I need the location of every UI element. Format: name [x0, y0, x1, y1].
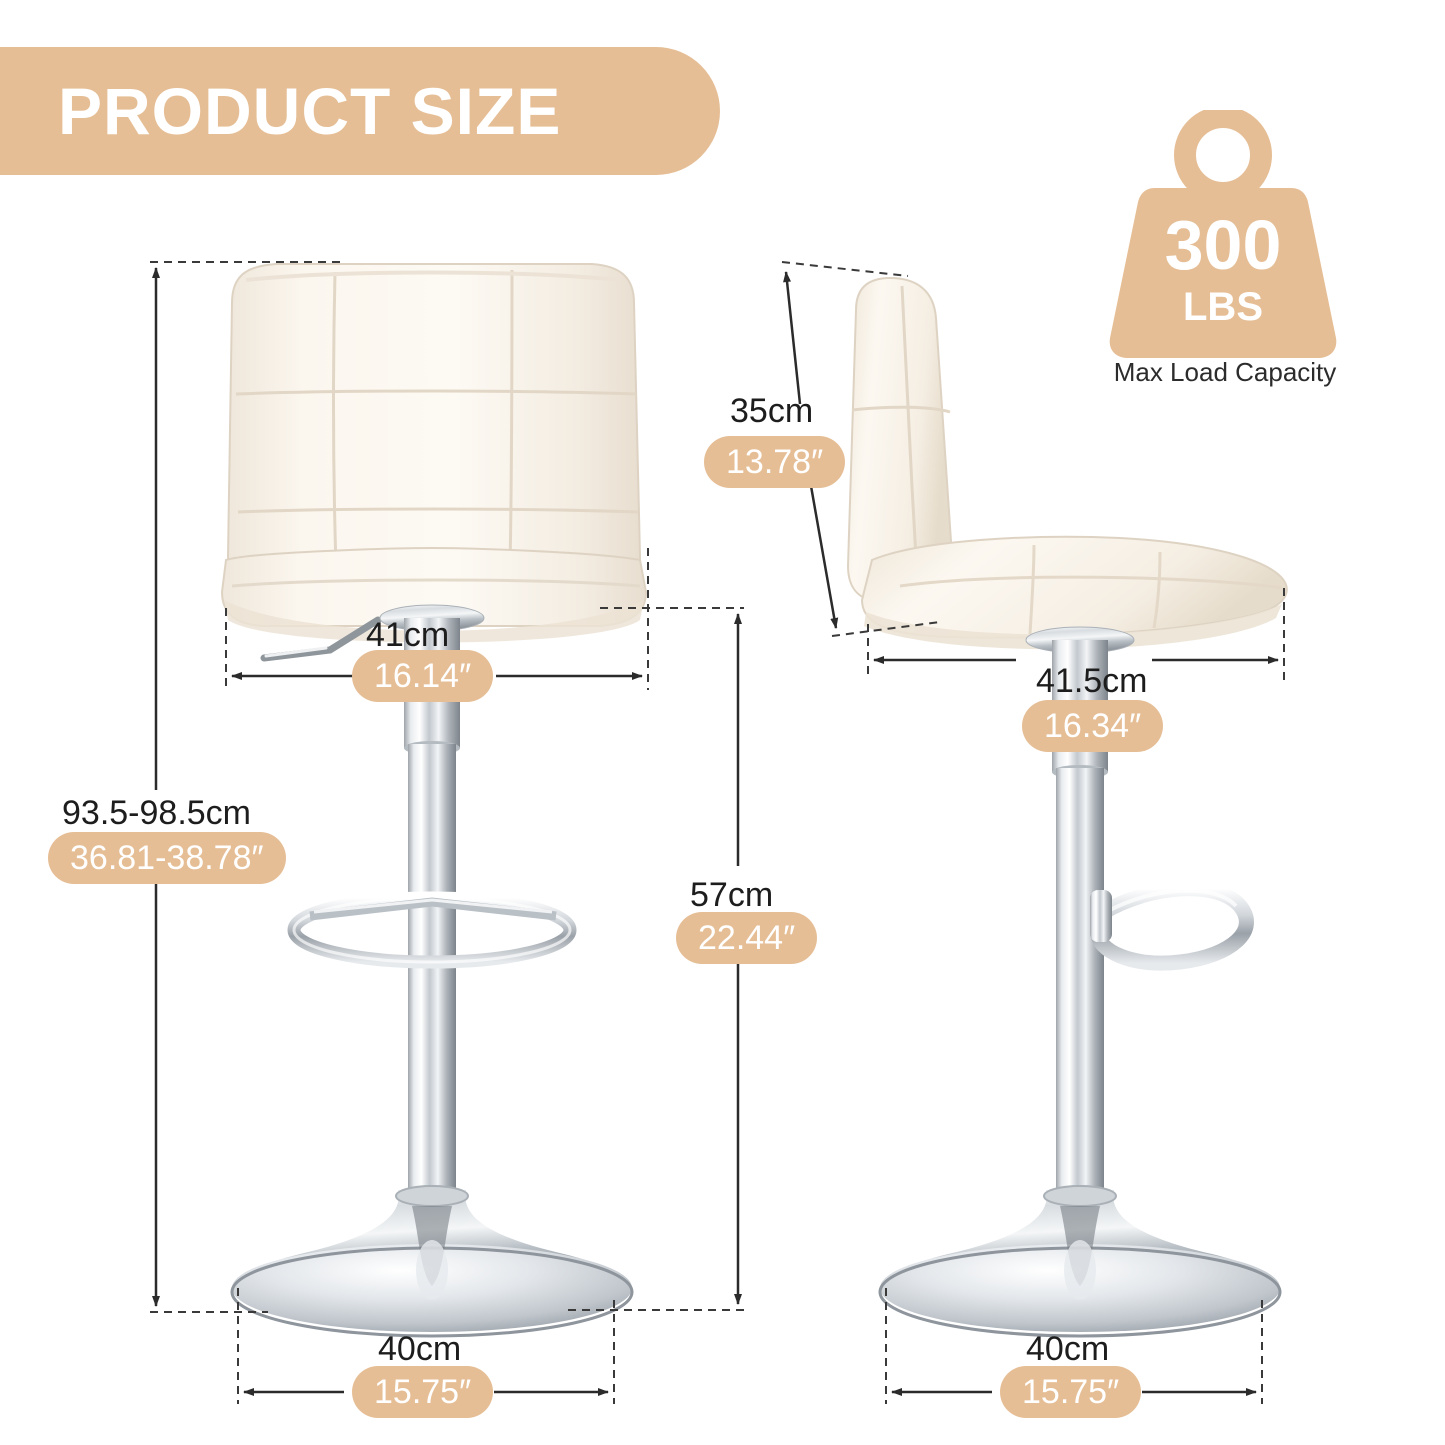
- infographic-canvas: PRODUCT SIZE 300 LBS Max Load Capacity 4…: [0, 0, 1445, 1445]
- dimension-front-seat-width-cm: 41cm: [366, 616, 449, 654]
- dimension-front-base-cm: 40cm: [378, 1330, 461, 1368]
- dimension-front-seat-height-cm: 57cm: [690, 876, 773, 914]
- max-load-unit: LBS: [1098, 286, 1348, 328]
- page-title: PRODUCT SIZE: [58, 62, 561, 160]
- dimension-side-depth-inch: 16.34″: [1022, 700, 1163, 752]
- dimension-side-base-cm: 40cm: [1026, 1330, 1109, 1368]
- dimension-side-back-height-inch: 13.78″: [704, 436, 845, 488]
- dimension-front-total-height-cm: 93.5-98.5cm: [62, 794, 251, 832]
- max-load-caption: Max Load Capacity: [1085, 357, 1365, 388]
- dimension-side-base-inch: 15.75″: [1000, 1366, 1141, 1418]
- dimline-front-total-height: [150, 262, 340, 1312]
- dimension-front-seat-width-inch: 16.14″: [352, 650, 493, 702]
- dimension-side-depth-cm: 41.5cm: [1036, 662, 1148, 700]
- dimension-front-total-height-inch: 36.81-38.78″: [48, 832, 286, 884]
- dimension-front-base-inch: 15.75″: [352, 1366, 493, 1418]
- dimension-side-back-height-cm: 35cm: [730, 392, 813, 430]
- dimension-front-seat-height-inch: 22.44″: [676, 912, 817, 964]
- max-load-value: 300: [1098, 208, 1348, 282]
